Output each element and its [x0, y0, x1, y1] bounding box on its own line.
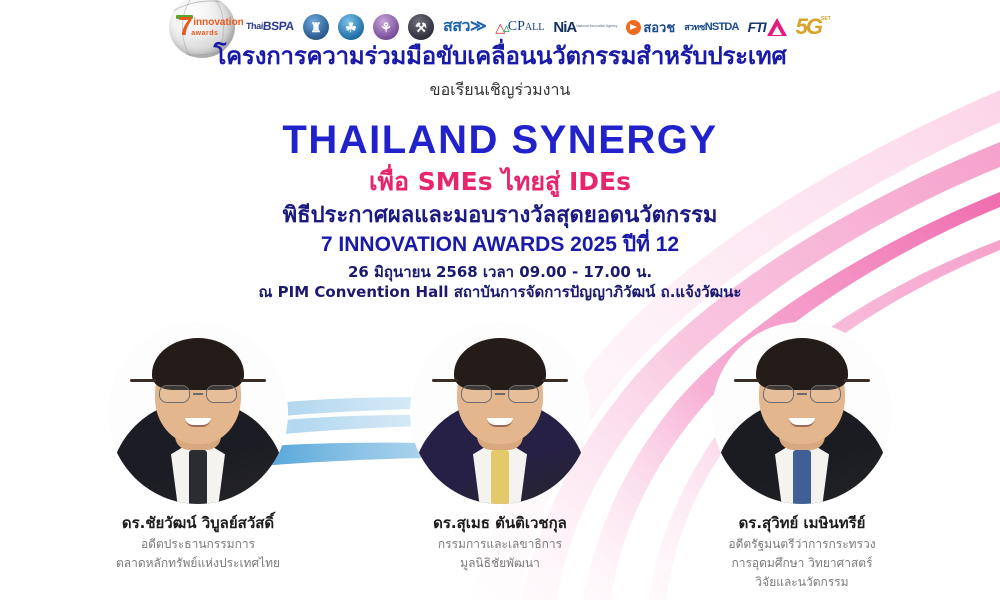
- speaker-2-tie: [491, 450, 509, 504]
- fti-wordmark: FTI: [748, 20, 766, 34]
- invitation-line: ขอเรียนเชิญร่วมงาน: [0, 80, 1000, 99]
- speaker-1-tie: [189, 450, 207, 504]
- event-venue: ณ PIM Convention Hall สถาบันการจัดการปัญ…: [0, 283, 1000, 302]
- cpall-mark: △▵: [495, 21, 508, 34]
- crest-3-glyph: ⚘: [380, 21, 392, 34]
- innovation-word: innovation: [193, 18, 244, 29]
- event-title-th: เพื่อ SMEs ไทยสู่ IDEs: [0, 167, 1000, 197]
- cpall-text: CPALL: [508, 20, 545, 34]
- speaker-3-name: ดร.สุวิทย์ เมษินทรีย์: [677, 514, 927, 533]
- 5g-superscript: SET: [821, 17, 831, 22]
- speaker-2-name: ดร.สุเมธ ตันติเวชกุล: [375, 514, 625, 533]
- nstda-english: NSTDA: [705, 22, 739, 33]
- ceremony-line: พิธีประกาศผลและมอบรางวัลสุดยอดนวัตกรรม: [0, 203, 1000, 229]
- speaker-3-tie: [793, 450, 811, 504]
- speaker-1-role-line1: อดีตประธานกรรมการ: [73, 536, 323, 552]
- crest-1-glyph: ♜: [310, 21, 322, 34]
- speaker-2-role-line1: กรรมการและเลขาธิการ: [375, 536, 625, 552]
- speaker-3-role-line1: อดีตรัฐมนตรีว่าการกระทรวง: [677, 536, 927, 552]
- speaker-1-name: ดร.ชัยวัฒน์ วิบูลย์สวัสดิ์: [73, 514, 323, 533]
- cpall-logo: △▵ CPALL: [495, 21, 544, 34]
- 5g-number: 5G: [796, 16, 821, 38]
- tbspa-line1: Thai: [246, 23, 263, 31]
- speaker-3-role-line3: วิจัยและนวัตกรรม: [677, 574, 927, 590]
- tbspa-line2: BSPA: [263, 21, 295, 32]
- sovn-arrow-icon: [626, 20, 641, 35]
- speaker-1-glasses-icon: [159, 384, 237, 404]
- speaker-2-glasses-icon: [461, 384, 539, 404]
- nia-subtitle: National Innovation Agency: [576, 25, 617, 28]
- crest-4-glyph: ⚒: [415, 21, 427, 34]
- awards-word: awards: [191, 30, 218, 37]
- tbspa-logo: Thai BSPA: [246, 21, 295, 32]
- nia-logo: NiA National Innovation Agency: [553, 20, 617, 35]
- speaker-3-glasses-icon: [763, 384, 841, 404]
- award-name-line: 7 INNOVATION AWARDS 2025 ปีที่ 12: [0, 232, 1000, 257]
- crest-logo-4: ⚒: [408, 14, 434, 40]
- fti-logo: FTI: [748, 18, 787, 36]
- speaker-card-2: ดร.สุเมธ ตันติเวชกุล กรรมการและเลขาธิการ…: [375, 322, 625, 571]
- crest-2-glyph: ☘: [345, 21, 357, 34]
- event-title-en: THAILAND SYNERGY: [0, 118, 1000, 162]
- nia-wordmark: NiA: [553, 20, 576, 35]
- crest-logo-3: ⚘: [373, 14, 399, 40]
- speaker-card-1: ดร.ชัยวัฒน์ วิบูลย์สวัสดิ์ อดีตประธานกรร…: [73, 322, 323, 571]
- fti-triangle-icon: [767, 18, 787, 36]
- crest-logo-1: ♜: [303, 14, 329, 40]
- nstda-logo: สวทช NSTDA: [684, 22, 738, 33]
- event-poster: 7 innovation awards Thai BSPA ♜ ☘ ⚘ ⚒ สส…: [0, 0, 1000, 600]
- speaker-2-role-line2: มูลนิธิชัยพัฒนา: [375, 555, 625, 571]
- nstda-thai: สวทช: [684, 23, 705, 32]
- sasw-logo: สสว≫: [443, 19, 486, 35]
- speaker-card-3: ดร.สุวิทย์ เมษินทรีย์ อดีตรัฐมนตรีว่าการ…: [677, 322, 927, 590]
- event-date-time: 26 มิถุนายน 2568 เวลา 09.00 - 17.00 น.: [0, 263, 1000, 282]
- speaker-1-role-line2: ตลาดหลักทรัพย์แห่งประเทศไทย: [73, 555, 323, 571]
- main-heading: โครงการความร่วมมือขับเคลื่อนนวัตกรรมสำหร…: [0, 42, 1000, 71]
- seven-numeral: 7: [178, 13, 191, 39]
- speaker-list: ดร.ชัยวัฒน์ วิบูลย์สวัสดิ์ อดีตประธานกรร…: [0, 322, 1000, 600]
- speaker-portrait-3: [712, 322, 892, 504]
- sovn-text: สอวช: [643, 21, 675, 34]
- speaker-portrait-2: [410, 322, 590, 504]
- sovn-logo: สอวช: [626, 20, 675, 35]
- crest-logo-2: ☘: [338, 14, 364, 40]
- speaker-portrait-1: [108, 322, 288, 504]
- 5g-logo: 5G SET: [796, 16, 831, 38]
- speaker-3-role-line2: การอุดมศึกษา วิทยาศาสตร์: [677, 555, 927, 571]
